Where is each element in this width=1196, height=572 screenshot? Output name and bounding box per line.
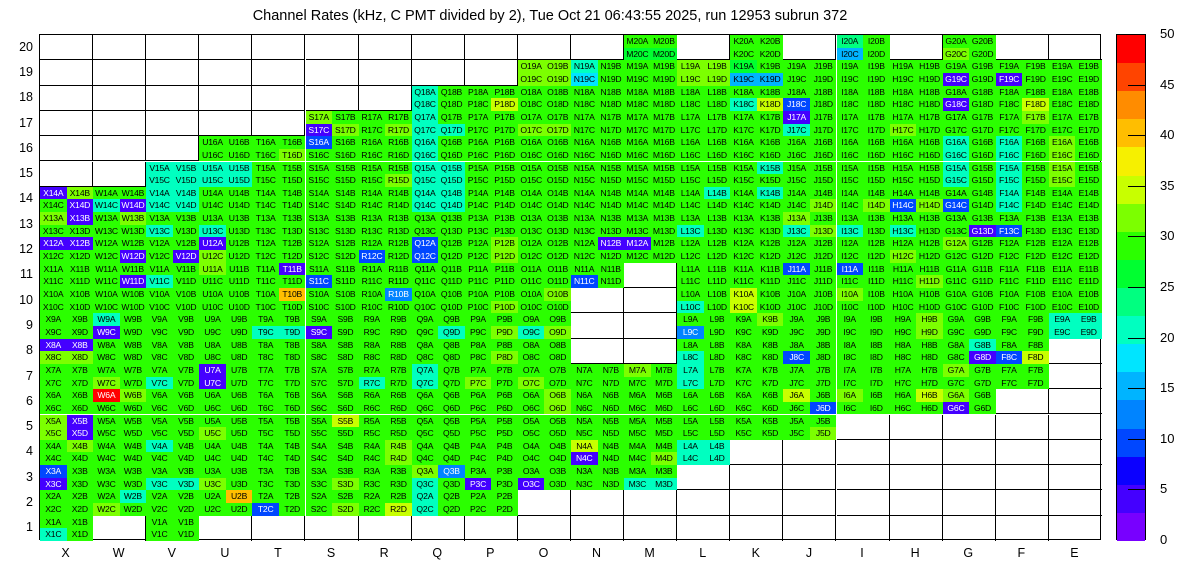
heatmap-subcell: P16D (491, 149, 518, 162)
heatmap-subcell: V3B (173, 465, 200, 478)
heatmap-subcell: P17C (465, 124, 492, 137)
heatmap-subcell: J18D (810, 98, 837, 111)
heatmap-subcell: K17C (730, 124, 757, 137)
heatmap-subcell: V1A (146, 516, 173, 529)
heatmap-subcell: U6D (226, 402, 253, 415)
heatmap-cell: K14AK14BK14CK14D (730, 187, 783, 212)
heatmap-cell: K8AK8BK8CK8D (730, 339, 783, 364)
heatmap-subcell: R5C (359, 427, 386, 440)
heatmap-cell: W14AW14BW14CW14D (93, 187, 146, 212)
colorbar-band (1117, 316, 1145, 344)
heatmap-subcell: T8C (252, 351, 279, 364)
heatmap-subcell: J12D (810, 250, 837, 263)
heatmap-subcell: F15D (1022, 174, 1049, 187)
heatmap-subcell: O18C (518, 98, 545, 111)
heatmap-subcell: M15C (624, 174, 651, 187)
heatmap-subcell: M18A (624, 86, 651, 99)
heatmap-subcell: L4D (704, 452, 731, 465)
heatmap-subcell: E10D (1075, 301, 1102, 314)
heatmap-subcell: G8A (943, 339, 970, 352)
heatmap-subcell: M14B (651, 187, 678, 200)
heatmap-cell: R17AR17BR17CR17D (359, 111, 412, 136)
heatmap-subcell: F7A (996, 364, 1023, 377)
y-axis-tick-label: 12 (0, 243, 33, 255)
heatmap-cell (465, 60, 518, 85)
heatmap-subcell: H19C (890, 73, 917, 86)
heatmap-subcell: M14D (651, 199, 678, 212)
heatmap-subcell: P9D (491, 326, 518, 339)
heatmap-cell: J16AJ16BJ16CJ16D (783, 136, 836, 161)
heatmap-subcell: I17A (837, 111, 864, 124)
heatmap-cell: N14AN14BN14CN14D (571, 187, 624, 212)
heatmap-subcell: R15D (385, 174, 412, 187)
x-axis-tick-label: T (258, 546, 298, 560)
heatmap-subcell: F10A (996, 288, 1023, 301)
heatmap-subcell: R3B (385, 465, 412, 478)
heatmap-cell: H18AH18BH18CH18D (890, 86, 943, 111)
heatmap-subcell: O15C (518, 174, 545, 187)
heatmap-subcell: H8D (916, 351, 943, 364)
heatmap-subcell: K14A (730, 187, 757, 200)
heatmap-cell: M15AM15BM15CM15D (624, 162, 677, 187)
heatmap-subcell: W8C (93, 351, 120, 364)
heatmap-subcell: G6A (943, 389, 970, 402)
heatmap-subcell: G11D (969, 275, 996, 288)
heatmap-cell: T4AT4BT4CT4D (252, 440, 305, 465)
heatmap-subcell: Q3C (412, 478, 439, 491)
heatmap-cell: G11AG11BG11CG11D (943, 263, 996, 288)
heatmap-cell: I8AI8BI8CI8D (837, 339, 890, 364)
heatmap-subcell: R12C (359, 250, 386, 263)
heatmap-subcell: L17B (704, 111, 731, 124)
heatmap-subcell: L9C (677, 326, 704, 339)
heatmap-subcell: H10C (890, 301, 917, 314)
heatmap-subcell: Q9B (438, 313, 465, 326)
heatmap-subcell: X14B (67, 187, 94, 200)
colorbar-band (1117, 260, 1145, 288)
heatmap-subcell: Q5A (412, 415, 439, 428)
heatmap-subcell: F7B (1022, 364, 1049, 377)
heatmap-subcell: N4B (598, 440, 625, 453)
heatmap-subcell: K5A (730, 415, 757, 428)
heatmap-subcell: S13B (332, 212, 359, 225)
heatmap-subcell: R9A (359, 313, 386, 326)
heatmap-subcell: N3B (598, 465, 625, 478)
heatmap-subcell: J11A (783, 263, 810, 276)
heatmap-subcell: S6D (332, 402, 359, 415)
heatmap-subcell: O16C (518, 149, 545, 162)
heatmap-subcell: G17D (969, 124, 996, 137)
heatmap-cell: O4AO4BO4CO4D (518, 440, 571, 465)
heatmap-subcell: O9C (518, 326, 545, 339)
heatmap-subcell: N18C (571, 98, 598, 111)
heatmap-subcell: Q4A (412, 440, 439, 453)
heatmap-subcell: W4D (120, 452, 147, 465)
heatmap-subcell: P13A (465, 212, 492, 225)
colorbar-band (1117, 91, 1145, 119)
heatmap-subcell: V14D (173, 199, 200, 212)
heatmap-subcell: I9A (837, 313, 864, 326)
heatmap-subcell: P10B (491, 288, 518, 301)
heatmap-subcell: G15B (969, 162, 996, 175)
heatmap-subcell: G10A (943, 288, 970, 301)
y-axis-tick-label: 1 (0, 521, 33, 533)
heatmap-subcell: S11B (332, 263, 359, 276)
x-axis-tick-label: K (736, 546, 776, 560)
heatmap-cell: H17AH17BH17CH17D (890, 111, 943, 136)
heatmap-subcell: T10B (279, 288, 306, 301)
heatmap-subcell: U5B (226, 415, 253, 428)
heatmap-subcell: L15C (677, 174, 704, 187)
heatmap-cell: O7AO7BO7CO7D (518, 364, 571, 389)
heatmap-subcell: O17B (544, 111, 571, 124)
heatmap-subcell: R6C (359, 402, 386, 415)
heatmap-subcell: L4A (677, 440, 704, 453)
heatmap-subcell: W8A (93, 339, 120, 352)
heatmap-subcell: R4D (385, 452, 412, 465)
heatmap-subcell: U5D (226, 427, 253, 440)
heatmap-subcell: O15A (518, 162, 545, 175)
heatmap-subcell: H16B (916, 136, 943, 149)
heatmap-cell: S15AS15BS15CS15D (306, 162, 359, 187)
heatmap-subcell: J17A (783, 111, 810, 124)
heatmap-cell (93, 162, 146, 187)
heatmap-subcell: P8D (491, 351, 518, 364)
heatmap-subcell: M5B (651, 415, 678, 428)
y-axis-tick-label: 8 (0, 344, 33, 356)
heatmap-subcell: U14A (199, 187, 226, 200)
heatmap-subcell: G12B (969, 237, 996, 250)
heatmap-subcell: U7A (199, 364, 226, 377)
heatmap-subcell: X6D (67, 402, 94, 415)
heatmap-subcell: H13C (890, 225, 917, 238)
heatmap-subcell: V14C (146, 199, 173, 212)
heatmap-cell: X7AX7BX7CX7D (40, 364, 93, 389)
heatmap-subcell: Q10D (438, 301, 465, 314)
heatmap-subcell: P4D (491, 452, 518, 465)
heatmap-subcell: G16D (969, 149, 996, 162)
heatmap-cell (146, 60, 199, 85)
heatmap-subcell: E16A (1049, 136, 1076, 149)
heatmap-subcell: W6C (93, 402, 120, 415)
heatmap-subcell: F15A (996, 162, 1023, 175)
heatmap-cell (890, 415, 943, 440)
heatmap-subcell: U16C (199, 149, 226, 162)
y-axis-tick-label: 11 (0, 268, 33, 280)
heatmap-subcell: P11A (465, 263, 492, 276)
heatmap-subcell: S14D (332, 199, 359, 212)
heatmap-subcell: Q9C (412, 326, 439, 339)
colorbar-tick-label: 25 (1160, 280, 1174, 293)
heatmap-subcell: T4C (252, 452, 279, 465)
heatmap-cell (943, 516, 996, 541)
heatmap-cell: I9AI9BI9CI9D (837, 313, 890, 338)
heatmap-subcell: U2C (199, 503, 226, 516)
heatmap-subcell: G17A (943, 111, 970, 124)
heatmap-subcell: I20A (837, 35, 864, 48)
heatmap-cell (40, 111, 93, 136)
heatmap-cell: W7AW7BW7CW7D (93, 364, 146, 389)
heatmap-subcell: T2A (252, 490, 279, 503)
heatmap-subcell: J11C (783, 275, 810, 288)
heatmap-cell: L17AL17BL17CL17D (677, 111, 730, 136)
heatmap-subcell: N3D (598, 478, 625, 491)
heatmap-subcell: E11D (1075, 275, 1102, 288)
heatmap-subcell: S14A (306, 187, 333, 200)
heatmap-subcell: E19A (1049, 60, 1076, 73)
heatmap-subcell: V10D (173, 301, 200, 314)
heatmap-subcell: W2B (120, 490, 147, 503)
x-axis-tick-label: E (1054, 546, 1094, 560)
heatmap-subcell: X2B (67, 490, 94, 503)
heatmap-subcell: F14D (1022, 199, 1049, 212)
heatmap-subcell: Q6B (438, 389, 465, 402)
heatmap-subcell: G9A (943, 313, 970, 326)
heatmap-cell: I12AI12BI12CI12D (837, 237, 890, 262)
heatmap-subcell: E19B (1075, 60, 1102, 73)
heatmap-subcell: N5C (571, 427, 598, 440)
heatmap-subcell: I6A (837, 389, 864, 402)
heatmap-subcell: E17C (1049, 124, 1076, 137)
heatmap-subcell: I17B (863, 111, 890, 124)
heatmap-subcell: I20B (863, 35, 890, 48)
heatmap-subcell: M7D (651, 377, 678, 390)
heatmap-cell: K20AK20BK20CK20D (730, 35, 783, 60)
heatmap-subcell: R7C (359, 377, 386, 390)
heatmap-subcell: K9D (757, 326, 784, 339)
heatmap-cell (199, 86, 252, 111)
heatmap-subcell: T5C (252, 427, 279, 440)
heatmap-subcell: S16D (332, 149, 359, 162)
y-axis-tick-label: 10 (0, 294, 33, 306)
heatmap-subcell: T15A (252, 162, 279, 175)
heatmap-subcell: U7D (226, 377, 253, 390)
heatmap-subcell: U3B (226, 465, 253, 478)
heatmap-subcell: U15D (226, 174, 253, 187)
heatmap-subcell: J5C (783, 427, 810, 440)
heatmap-subcell: Q14A (412, 187, 439, 200)
heatmap-subcell: S10C (306, 301, 333, 314)
heatmap-subcell: I10B (863, 288, 890, 301)
heatmap-subcell: K10D (757, 301, 784, 314)
heatmap-subcell: T3B (279, 465, 306, 478)
heatmap-subcell: P3D (491, 478, 518, 491)
heatmap-cell: G18AG18BG18CG18D (943, 86, 996, 111)
heatmap-cell: H14AH14BH14CH14D (890, 187, 943, 212)
heatmap-cell (146, 35, 199, 60)
heatmap-subcell: G18B (969, 86, 996, 99)
heatmap-subcell: V7D (173, 377, 200, 390)
heatmap-cell (1049, 339, 1102, 364)
heatmap-subcell: V11C (146, 275, 173, 288)
heatmap-subcell: L9B (704, 313, 731, 326)
heatmap-subcell: N7A (571, 364, 598, 377)
heatmap-subcell: J15B (810, 162, 837, 175)
heatmap-subcell: P13B (491, 212, 518, 225)
heatmap-subcell: P16C (465, 149, 492, 162)
heatmap-cell: H19AH19BH19CH19D (890, 60, 943, 85)
heatmap-subcell: V13A (146, 212, 173, 225)
heatmap-subcell: L7B (704, 364, 731, 377)
heatmap-subcell: T10D (279, 301, 306, 314)
heatmap-subcell: U4C (199, 452, 226, 465)
heatmap-cell: F12AF12BF12CF12D (996, 237, 1049, 262)
heatmap-subcell: S11A (306, 263, 333, 276)
heatmap-cell: M7AM7BM7CM7D (624, 364, 677, 389)
heatmap-subcell: L8B (704, 339, 731, 352)
heatmap-cell: M13AM13BM13CM13D (624, 212, 677, 237)
heatmap-subcell: X12C (40, 250, 67, 263)
heatmap-subcell: X5A (40, 415, 67, 428)
page-title: Channel Rates (kHz, C PMT divided by 2),… (0, 8, 1100, 24)
x-axis-tick-label: N (577, 546, 617, 560)
heatmap-cell (571, 490, 624, 515)
heatmap-subcell: J19D (810, 73, 837, 86)
heatmap-subcell: I16B (863, 136, 890, 149)
heatmap-subcell: L8D (704, 351, 731, 364)
colorbar-tick-label: 5 (1160, 482, 1167, 495)
heatmap-subcell: S15C (306, 174, 333, 187)
heatmap-subcell: N7B (598, 364, 625, 377)
heatmap-subcell: Q17C (412, 124, 439, 137)
heatmap-cell (40, 35, 93, 60)
heatmap-subcell: L19B (704, 60, 731, 73)
heatmap-subcell: I18D (863, 98, 890, 111)
heatmap-cell: T11AT11BT11CT11D (252, 263, 305, 288)
heatmap-subcell: N3C (571, 478, 598, 491)
heatmap-subcell: H8A (890, 339, 917, 352)
heatmap-subcell: I6D (863, 402, 890, 415)
heatmap-subcell: P12A (465, 237, 492, 250)
heatmap-subcell: S6A (306, 389, 333, 402)
heatmap-subcell: S5C (306, 427, 333, 440)
heatmap-subcell: X1A (40, 516, 67, 529)
heatmap-subcell: T2B (279, 490, 306, 503)
heatmap-subcell: H19A (890, 60, 917, 73)
heatmap-cell: T10AT10BT10CT10D (252, 288, 305, 313)
heatmap-subcell: S13D (332, 225, 359, 238)
heatmap-cell: V3AV3BV3CV3D (146, 465, 199, 490)
heatmap-subcell: Q2B (438, 490, 465, 503)
heatmap-cell (146, 86, 199, 111)
heatmap-subcell: F18C (996, 98, 1023, 111)
heatmap-subcell: L12C (677, 250, 704, 263)
heatmap-subcell: Q8C (412, 351, 439, 364)
heatmap-subcell: G19D (969, 73, 996, 86)
heatmap-cell: K11AK11BK11CK11D (730, 263, 783, 288)
heatmap-subcell: U7C (199, 377, 226, 390)
heatmap-cell (93, 86, 146, 111)
heatmap-subcell: T13C (252, 225, 279, 238)
heatmap-subcell: N3A (571, 465, 598, 478)
y-axis-tick-label: 7 (0, 370, 33, 382)
heatmap-cell (730, 490, 783, 515)
heatmap-cell: E16AE16BE16CE16D (1049, 136, 1102, 161)
heatmap-subcell: W11B (120, 263, 147, 276)
heatmap-subcell: J12B (810, 237, 837, 250)
x-axis-tick-label: O (523, 546, 563, 560)
heatmap-subcell: M5C (624, 427, 651, 440)
heatmap-subcell: P13C (465, 225, 492, 238)
heatmap-cell: P2AP2BP2CP2D (465, 490, 518, 515)
heatmap-subcell: T2C (252, 503, 279, 516)
heatmap-cell: I7AI7BI7CI7D (837, 364, 890, 389)
heatmap-subcell: T6D (279, 402, 306, 415)
heatmap-subcell: O17C (518, 124, 545, 137)
heatmap-subcell: R11B (385, 263, 412, 276)
heatmap-subcell: V15C (146, 174, 173, 187)
x-axis-tick-label: R (364, 546, 404, 560)
heatmap-subcell: E15A (1049, 162, 1076, 175)
y-axis-tick-label: 5 (0, 420, 33, 432)
heatmap-subcell: N17B (598, 111, 625, 124)
heatmap-subcell: I8A (837, 339, 864, 352)
heatmap-subcell: R13B (385, 212, 412, 225)
heatmap-subcell: M19C (624, 73, 651, 86)
heatmap-subcell: Q16A (412, 136, 439, 149)
heatmap-subcell: G14D (969, 199, 996, 212)
heatmap-cell: P3AP3BP3CP3D (465, 465, 518, 490)
heatmap-subcell: N6A (571, 389, 598, 402)
heatmap-subcell: Q10C (412, 301, 439, 314)
heatmap-cell (996, 440, 1049, 465)
heatmap-cell (837, 415, 890, 440)
heatmap-subcell: P10D (491, 301, 518, 314)
heatmap-cell: M12AM12BM12CM12D (624, 237, 677, 262)
heatmap-subcell: T14B (279, 187, 306, 200)
heatmap-subcell: O6B (544, 389, 571, 402)
heatmap-subcell: L7A (677, 364, 704, 377)
heatmap-subcell: V11B (173, 263, 200, 276)
heatmap-subcell: H12A (890, 237, 917, 250)
heatmap-subcell: V5A (146, 415, 173, 428)
heatmap-cell: S2AS2BS2CS2D (306, 490, 359, 515)
heatmap-subcell: E16D (1075, 149, 1102, 162)
heatmap-subcell: N17A (571, 111, 598, 124)
heatmap-subcell: H6A (890, 389, 917, 402)
heatmap-cell: W11AW11BW11CW11D (93, 263, 146, 288)
heatmap-cell: X2AX2BX2CX2D (40, 490, 93, 515)
heatmap-subcell: W7A (93, 364, 120, 377)
heatmap-subcell: I12C (837, 250, 864, 263)
heatmap-cell: Q2AQ2BQ2CQ2D (412, 490, 465, 515)
heatmap-subcell: P13D (491, 225, 518, 238)
heatmap-subcell: W13C (93, 225, 120, 238)
heatmap-subcell: J9B (810, 313, 837, 326)
heatmap-subcell: R11D (385, 275, 412, 288)
heatmap-subcell: W11D (120, 275, 147, 288)
heatmap-subcell: G16C (943, 149, 970, 162)
heatmap-subcell: W10C (93, 301, 120, 314)
heatmap-subcell: K18B (757, 86, 784, 99)
heatmap-subcell: W8D (120, 351, 147, 364)
colorbar-tick (1128, 439, 1146, 440)
heatmap-cell: H9AH9BH9CH9D (890, 313, 943, 338)
heatmap-subcell: J14C (783, 199, 810, 212)
heatmap-subcell: F10D (1022, 301, 1049, 314)
heatmap-subcell: I16A (837, 136, 864, 149)
heatmap-cell: R4AR4BR4CR4D (359, 440, 412, 465)
heatmap-cell: L15AL15BL15CL15D (677, 162, 730, 187)
heatmap-cell: F8AF8BF8CF8D (996, 339, 1049, 364)
heatmap-subcell: O7A (518, 364, 545, 377)
heatmap-subcell: I8C (837, 351, 864, 364)
heatmap-subcell: O18A (518, 86, 545, 99)
heatmap-subcell: X13C (40, 225, 67, 238)
heatmap-subcell: O15B (544, 162, 571, 175)
heatmap-subcell: H7B (916, 364, 943, 377)
heatmap-subcell: K19B (757, 60, 784, 73)
